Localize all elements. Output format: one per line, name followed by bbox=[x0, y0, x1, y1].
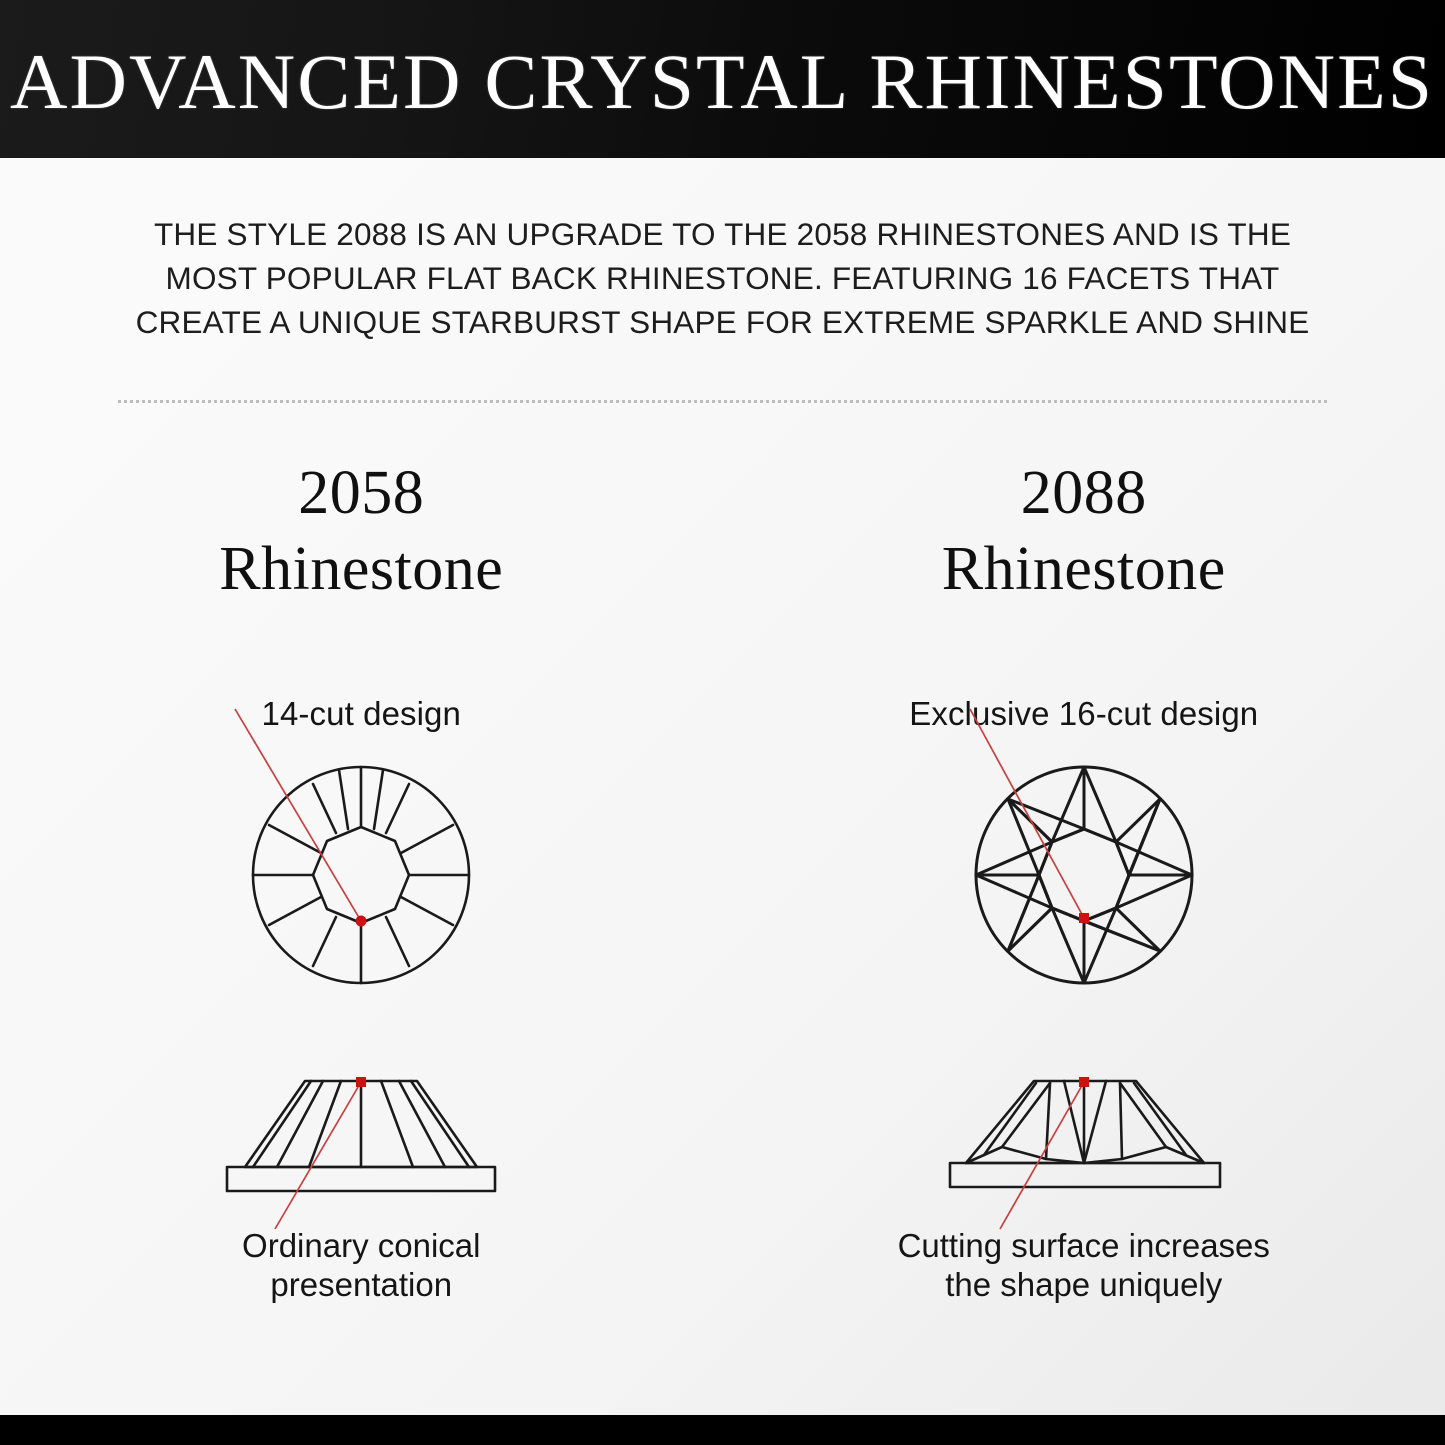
column-2088-cut-label: Exclusive 16-cut design bbox=[909, 695, 1258, 733]
column-2088-title-word: Rhinestone bbox=[942, 531, 1226, 607]
column-2088-caption: Cutting surface increases the shape uniq… bbox=[898, 1226, 1270, 1304]
pointer-dot bbox=[1079, 913, 1089, 923]
pointer-leader-line bbox=[1000, 1082, 1084, 1229]
pointer-dot bbox=[356, 916, 367, 927]
column-2058-title-word: Rhinestone bbox=[219, 531, 503, 607]
intro-paragraph: THE STYLE 2088 IS AN UPGRADE TO THE 2058… bbox=[110, 212, 1335, 344]
column-2058-title-number: 2058 bbox=[219, 455, 503, 531]
intro-line-3: CREATE A UNIQUE STARBURST SHAPE FOR EXTR… bbox=[110, 300, 1335, 344]
header-banner: ADVANCED CRYSTAL RHINESTONES bbox=[0, 0, 1445, 158]
column-2088-title-number: 2088 bbox=[942, 455, 1226, 531]
dotted-divider bbox=[118, 400, 1328, 403]
column-2088-title: 2088 Rhinestone bbox=[942, 455, 1226, 607]
column-2058-caption: Ordinary conical presentation bbox=[242, 1226, 480, 1304]
pointer-dot bbox=[1079, 1077, 1089, 1087]
column-2058-caption-line-1: Ordinary conical bbox=[242, 1226, 480, 1265]
column-2088-caption-line-2: the shape uniquely bbox=[898, 1265, 1270, 1304]
intro-line-1: THE STYLE 2088 IS AN UPGRADE TO THE 2058… bbox=[110, 212, 1335, 256]
rhinestone-2058-side-profile-icon bbox=[201, 1067, 521, 1202]
intro-line-2: MOST POPULAR FLAT BACK RHINESTONE. FEATU… bbox=[110, 256, 1335, 300]
pointer-leader-line bbox=[970, 709, 1084, 918]
column-2058-caption-line-2: presentation bbox=[242, 1265, 480, 1304]
rhinestone-2088-side-profile-icon bbox=[924, 1067, 1244, 1202]
rhinestone-2058-side-profile bbox=[201, 1067, 521, 1202]
footer-bar bbox=[0, 1415, 1445, 1445]
rhinestone-2058-top-view bbox=[211, 755, 511, 1005]
rhinestone-2058-top-view-icon bbox=[211, 755, 511, 1005]
rhinestone-2088-top-view-icon bbox=[934, 755, 1234, 1005]
column-2088-caption-line-1: Cutting surface increases bbox=[898, 1226, 1270, 1265]
rhinestone-2088-top-view bbox=[934, 755, 1234, 1005]
column-2058: 2058 Rhinestone 14-cut design bbox=[0, 455, 723, 1304]
comparison-columns: 2058 Rhinestone 14-cut design bbox=[0, 455, 1445, 1304]
page-title: ADVANCED CRYSTAL RHINESTONES bbox=[10, 37, 1434, 121]
column-2058-title: 2058 Rhinestone bbox=[219, 455, 503, 607]
rhinestone-2088-side-profile bbox=[924, 1067, 1244, 1202]
column-2088: 2088 Rhinestone Exclusive 16-cut design bbox=[723, 455, 1445, 1304]
pointer-dot bbox=[356, 1077, 366, 1087]
infographic-page: ADVANCED CRYSTAL RHINESTONES THE STYLE 2… bbox=[0, 0, 1445, 1445]
column-2058-cut-label: 14-cut design bbox=[262, 695, 461, 733]
